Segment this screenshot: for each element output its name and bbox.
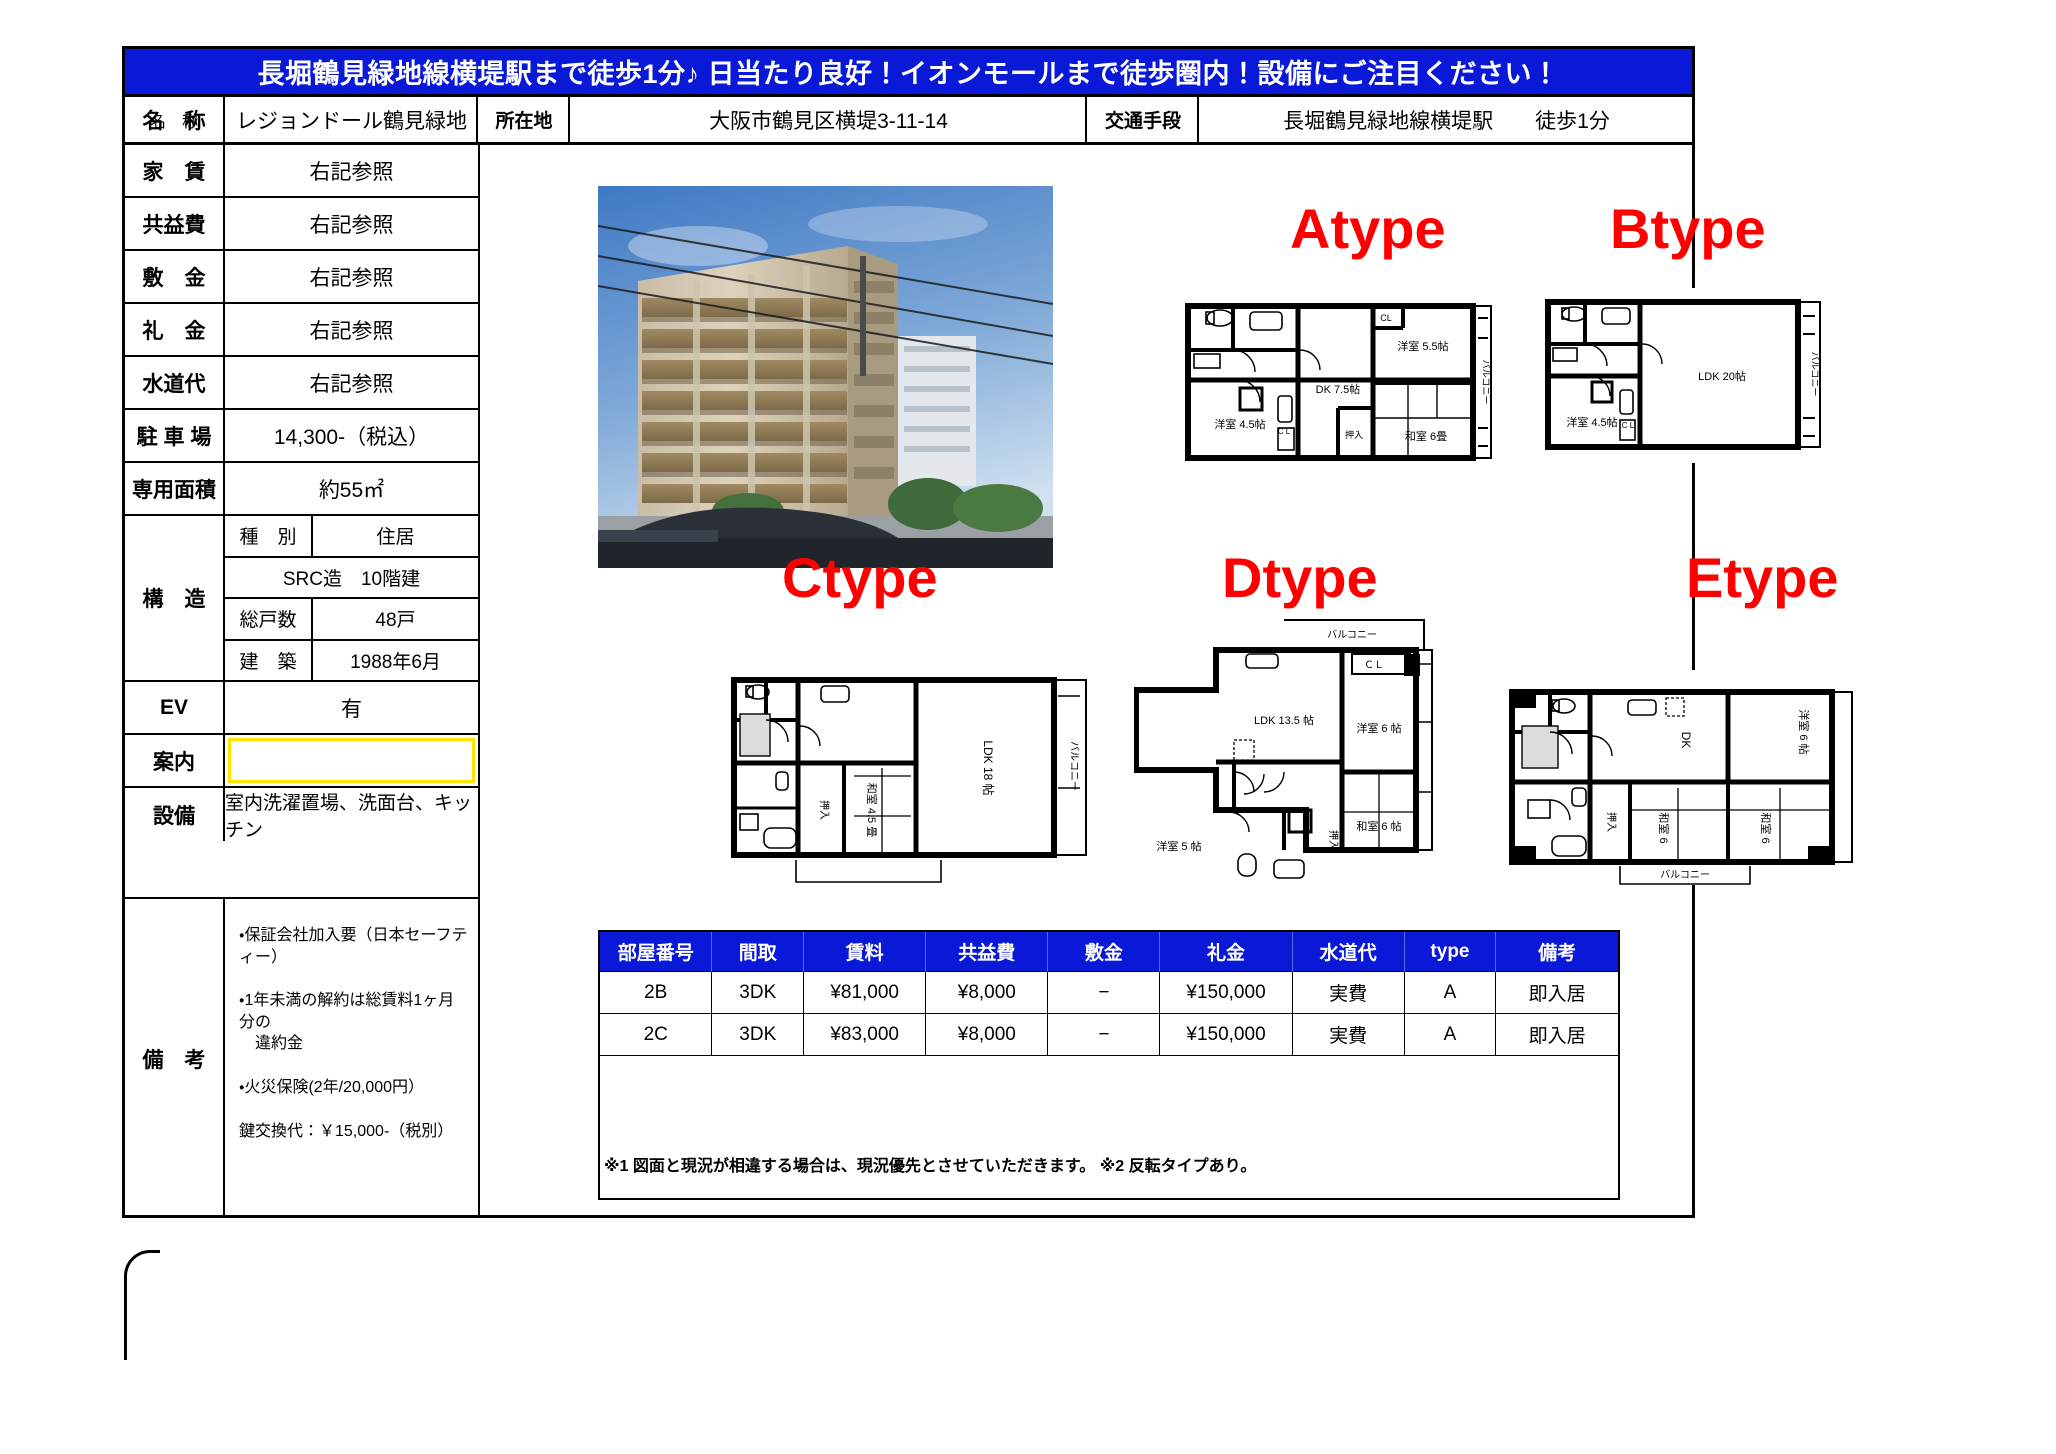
col-note: 備考	[1496, 932, 1618, 972]
spec-row-deposit: 敷 金 右記参照	[125, 251, 478, 304]
name-value: レジョンドール鶴見緑地	[227, 97, 478, 142]
room-label: 和室 4.5 畳	[865, 783, 878, 837]
spec-label: 礼 金	[125, 304, 225, 355]
spec-label: 敷 金	[125, 251, 225, 302]
spec-table: 家 賃 右記参照 共益費 右記参照 敷 金 右記参照 礼 金 右記参照 水道代 …	[125, 145, 478, 841]
spec-label: 共益費	[125, 198, 225, 249]
table-empty-row	[600, 1056, 1618, 1199]
structure-built-row: 建 築 1988年6月	[225, 641, 478, 681]
remark-item: ・保証会社加入要（日本セーフティー）	[239, 925, 468, 968]
access-value: 長堀鶴見緑地線横堤駅 徒歩1分	[1201, 97, 1692, 142]
closet-label: ＣＬ	[1364, 660, 1384, 671]
building-photo-image	[598, 186, 1053, 568]
room-label: LDK 13.5 帖	[1254, 714, 1314, 727]
oshiire-label: 押入	[818, 800, 831, 820]
table-row[interactable]: 2C 3DK ¥83,000 ¥8,000 − ¥150,000 実費 A 即入…	[600, 1014, 1618, 1056]
structure-built-value: 1988年6月	[313, 641, 478, 681]
spec-value: 14,300-（税込）	[225, 410, 478, 461]
closet-label: C L	[1622, 421, 1635, 430]
structure-build-value: SRC造 10階建	[225, 558, 478, 598]
floorplan-title-etype: Etype	[1686, 545, 1839, 610]
structure-units-label: 総戸数	[225, 599, 313, 639]
structure-kind-row: 種 別 住居	[225, 516, 478, 558]
balcony-label: バルコニー	[1660, 869, 1710, 881]
cell-room-number: 2C	[600, 1014, 712, 1056]
structure-units-value: 48戸	[313, 599, 478, 639]
structure-build-row: SRC造 10階建	[225, 558, 478, 600]
remarks-label: 備 考	[125, 899, 225, 1218]
listing-sheet-page: 長堀鶴見緑地線横堤駅まで徒歩1分♪ 日当たり良好！イオンモールまで徒歩圏内！設備…	[0, 0, 2056, 1454]
spec-row-parking: 駐 車 場 14,300-（税込）	[125, 410, 478, 463]
address-value: 大阪市鶴見区横堤3-11-14	[572, 97, 1087, 142]
spec-label: 水道代	[125, 357, 225, 408]
spec-row-equipment: 設備 室内洗濯置場、洗面台、キッチン	[125, 788, 478, 841]
cell-keymoney: ¥150,000	[1160, 1014, 1292, 1056]
closet-label: C L	[1278, 427, 1291, 436]
room-label: 和室 6 帖	[1356, 820, 1401, 833]
col-maintenance: 共益費	[926, 932, 1048, 972]
cell-rent: ¥81,000	[804, 972, 926, 1014]
closet-label: CL	[1380, 313, 1392, 323]
room-label: 洋室 6 帖	[1356, 721, 1401, 735]
spec-value: 右記参照	[225, 251, 478, 302]
floorplan-ctype: LDK 18 帖 和室 4.5 畳 押入 バルコニー	[726, 668, 1096, 888]
room-label: 洋室 4.5帖	[1566, 415, 1617, 429]
cell-keymoney: ¥150,000	[1160, 972, 1292, 1014]
room-label: 洋室 5.5帖	[1397, 339, 1448, 353]
col-type: type	[1404, 932, 1496, 972]
address-label: 所在地	[480, 97, 570, 142]
ev-label: EV	[125, 682, 225, 733]
headline-text: 長堀鶴見緑地線横堤駅まで徒歩1分♪ 日当たり良好！イオンモールまで徒歩圏内！設備…	[258, 52, 1560, 91]
col-layout: 間取	[712, 932, 804, 972]
col-room-number: 部屋番号	[600, 932, 712, 972]
oshiire-label: 押入	[1327, 830, 1340, 850]
cell-layout: 3DK	[712, 972, 804, 1014]
spec-row-ev: EV 有	[125, 682, 478, 735]
headline-banner: 長堀鶴見緑地線横堤駅まで徒歩1分♪ 日当たり良好！イオンモールまで徒歩圏内！設備…	[125, 49, 1692, 97]
floorplan-dtype: LDK 13.5 帖 洋室 6 帖 和室 6 帖 洋室 5 帖 ＣＬ 押入 バル…	[1134, 612, 1444, 887]
structure-block: 構 造 種 別 住居 SRC造 10階建 総戸数 48戸 建 築	[125, 516, 478, 682]
ev-value: 有	[225, 682, 478, 733]
annai-input[interactable]	[228, 738, 475, 783]
equipment-value: 室内洗濯置場、洗面台、キッチン	[225, 788, 478, 841]
remark-item: ・火災保険(2年/20,000円）	[239, 1077, 468, 1099]
col-deposit: 敷金	[1048, 932, 1160, 972]
cell-maintenance: ¥8,000	[926, 1014, 1048, 1056]
annai-label: 案内	[125, 735, 225, 786]
cell-type: A	[1404, 972, 1496, 1014]
remarks-body: ・保証会社加入要（日本セーフティー） ・1年未満の解約は総賃料1ヶ月分の 違約金…	[225, 899, 478, 1218]
floorplan-atype: 洋室 5.5帖 DK 7.5帖 洋室 4.5帖 和室 6畳 CL C L 押入 …	[1178, 288, 1508, 478]
room-label: LDK 20帖	[1698, 370, 1746, 383]
cell-layout: 3DK	[712, 1014, 804, 1056]
room-label: DK	[1679, 732, 1693, 749]
spec-value: 右記参照	[225, 357, 478, 408]
floorplan-title-ctype: Ctype	[782, 545, 938, 610]
col-water: 水道代	[1292, 932, 1404, 972]
oshiire-label: 押入	[1345, 429, 1363, 440]
spec-value: 右記参照	[225, 145, 478, 196]
remarks-block: 備 考 ・保証会社加入要（日本セーフティー） ・1年未満の解約は総賃料1ヶ月分の…	[125, 897, 478, 1218]
spec-row-area: 専用面積 約55㎡	[125, 463, 478, 516]
oshiire-label: 押入	[1605, 812, 1618, 832]
table-header-row: 部屋番号 間取 賃料 共益費 敷金 礼金 水道代 type 備考	[600, 932, 1618, 972]
access-label: 交通手段	[1089, 97, 1199, 142]
building-photo	[598, 186, 1053, 568]
cell-room-number: 2B	[600, 972, 712, 1014]
spec-value: 約55㎡	[225, 463, 478, 514]
floorplan-btype: LDK 20帖 洋室 4.5帖 C L バルコニー	[1540, 288, 1830, 463]
spec-row-water: 水道代 右記参照	[125, 357, 478, 410]
spec-row-annai: 案内	[125, 735, 478, 788]
equipment-label: 設備	[125, 788, 225, 841]
structure-units-row: 総戸数 48戸	[225, 599, 478, 641]
col-keymoney: 礼金	[1160, 932, 1292, 972]
cell-water: 実費	[1292, 1014, 1404, 1056]
floorplan-etype: DK 洋室 6 帖 和室 6 和室 6 押入 バルコニー	[1500, 670, 1860, 885]
spec-row-maintenance: 共益費 右記参照	[125, 198, 478, 251]
annai-field-wrap	[225, 735, 478, 786]
remark-item: 鍵交換代：￥15,000-（税別）	[239, 1121, 468, 1143]
name-label-cell: 名 称	[125, 97, 225, 142]
balcony-label: バルコニー	[1327, 629, 1377, 641]
table-row[interactable]: 2B 3DK ¥81,000 ¥8,000 − ¥150,000 実費 A 即入…	[600, 972, 1618, 1014]
room-label: 和室 6畳	[1405, 430, 1447, 443]
bracket-mask-top	[160, 1247, 1720, 1257]
spec-row-rent: 家 賃 右記参照	[125, 145, 478, 198]
balcony-label: バルコニー	[1481, 360, 1491, 405]
col-rent: 賃料	[804, 932, 926, 972]
spec-label: 駐 車 場	[125, 410, 225, 461]
spec-value: 右記参照	[225, 304, 478, 355]
remark-item: ・1年未満の解約は総賃料1ヶ月分の 違約金	[239, 990, 468, 1055]
footnote: ※1 図面と現況が相違する場合は、現況優先とさせていただきます。 ※2 反転タイ…	[604, 1152, 1256, 1176]
structure-label: 構 造	[125, 516, 225, 680]
room-label: 和室 6	[1759, 812, 1772, 843]
column-divider	[478, 145, 480, 1218]
spec-row-keymoney: 礼 金 右記参照	[125, 304, 478, 357]
floorplan-title-dtype: Dtype	[1222, 545, 1378, 610]
spec-value: 右記参照	[225, 198, 478, 249]
room-label: 洋室 4.5帖	[1214, 417, 1265, 431]
floorplan-title-btype: Btype	[1610, 196, 1766, 261]
room-label: DK 7.5帖	[1316, 383, 1361, 396]
cell-type: A	[1404, 1014, 1496, 1056]
structure-kind-label: 種 別	[225, 516, 313, 556]
cell-maintenance: ¥8,000	[926, 972, 1048, 1014]
table-blank-area	[600, 1056, 1618, 1199]
floorplan-title-atype: Atype	[1290, 196, 1446, 261]
cell-note: 即入居	[1496, 1014, 1618, 1056]
balcony-label: バルコニー	[1068, 741, 1080, 791]
cell-deposit: −	[1048, 1014, 1160, 1056]
room-label: 和室 6	[1657, 812, 1670, 843]
structure-built-label: 建 築	[225, 641, 313, 681]
room-label: LDK 18 帖	[981, 740, 996, 795]
room-label: 洋室 5 帖	[1156, 839, 1201, 853]
room-label: 洋室 6 帖	[1797, 709, 1811, 754]
cell-deposit: −	[1048, 972, 1160, 1014]
spec-label: 専用面積	[125, 463, 225, 514]
cell-water: 実費	[1292, 972, 1404, 1014]
structure-kind-value: 住居	[313, 516, 478, 556]
balcony-label: バルコニー	[1810, 352, 1820, 397]
identity-row: 名 称 名 称 レジョンドール鶴見緑地 所在地 大阪市鶴見区横堤3-11-14 …	[125, 97, 1692, 145]
bottom-bracket	[124, 1250, 1694, 1360]
cell-note: 即入居	[1496, 972, 1618, 1014]
spec-label: 家 賃	[125, 145, 225, 196]
cell-rent: ¥83,000	[804, 1014, 926, 1056]
